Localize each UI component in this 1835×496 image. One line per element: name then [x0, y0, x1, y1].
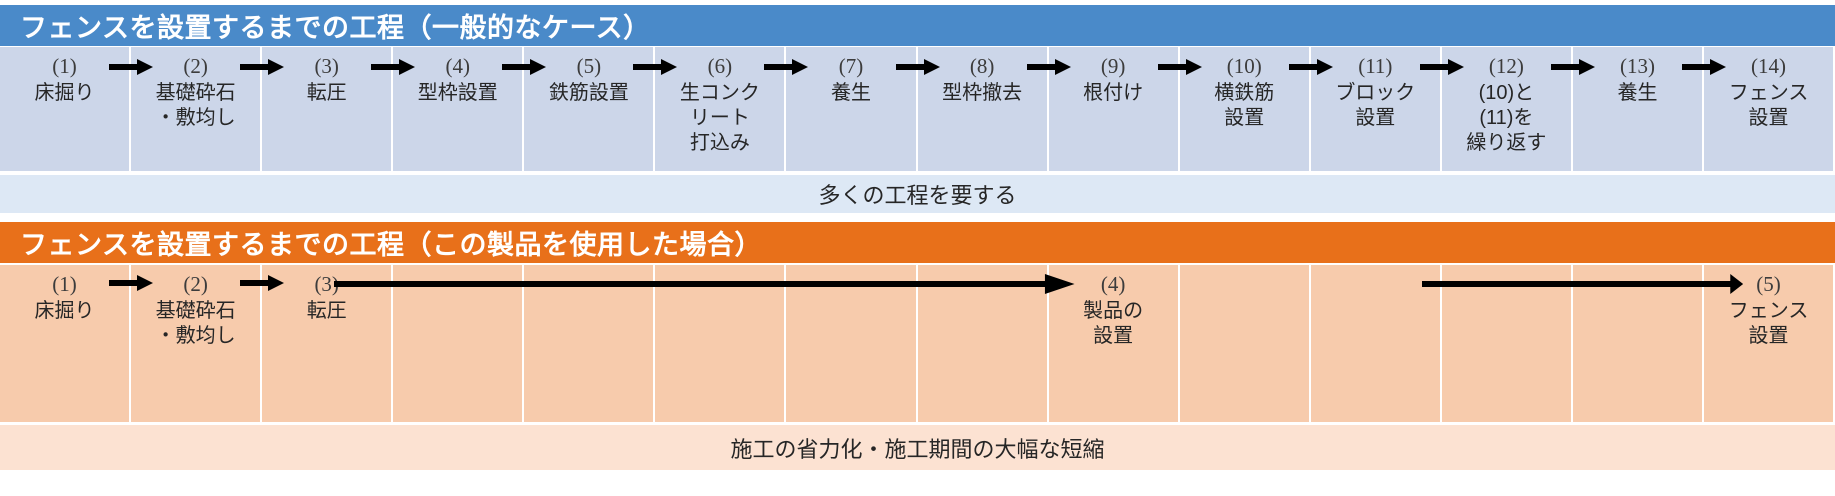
product-cell-11 — [1311, 265, 1442, 422]
step-number: (10) — [1227, 53, 1262, 79]
step-number: (8) — [970, 53, 995, 79]
conventional-cell-1: (1)床掘り — [0, 47, 131, 171]
product-cell-1: (1)床掘り — [0, 265, 131, 422]
product-section-title: フェンスを設置するまでの工程（この製品を使用した場合） — [0, 222, 1835, 263]
step-number: (3) — [314, 53, 339, 79]
step-number: (2) — [183, 53, 208, 79]
product-cell-10 — [1180, 265, 1311, 422]
step-label: 型枠撤去 — [942, 81, 1022, 106]
step-number: (5) — [577, 53, 602, 79]
step-number: (9) — [1101, 53, 1126, 79]
conventional-cell-5: (5)鉄筋設置 — [524, 47, 655, 171]
step-label: 製品の 設置 — [1083, 299, 1143, 349]
step-label: フェンス 設置 — [1729, 299, 1809, 349]
product-cell-8 — [918, 265, 1049, 422]
process-comparison-diagram: フェンスを設置するまでの工程（一般的なケース） (1)床掘り(2)基礎砕石 ・敷… — [0, 0, 1835, 496]
product-cell-3: (3)転圧 — [262, 265, 393, 422]
product-cell-5 — [524, 265, 655, 422]
step-number: (5) — [1756, 271, 1781, 297]
product-cell-9: (4)製品の 設置 — [1049, 265, 1180, 422]
product-cell-14: (5)フェンス 設置 — [1704, 265, 1835, 422]
step-label: 養生 — [1617, 81, 1657, 106]
step-label: 基礎砕石 ・敷均し — [156, 299, 236, 349]
step-label: 養生 — [831, 81, 871, 106]
step-number: (4) — [446, 53, 471, 79]
conventional-cell-7: (7)養生 — [786, 47, 917, 171]
step-label: 横鉄筋 設置 — [1214, 81, 1274, 131]
step-number: (14) — [1751, 53, 1786, 79]
product-cell-7 — [786, 265, 917, 422]
step-number: (1) — [52, 53, 77, 79]
step-number: (6) — [708, 53, 733, 79]
conventional-summary: 多くの工程を要する — [0, 175, 1835, 213]
step-number: (3) — [314, 271, 339, 297]
step-label: (10)と (11)を 繰り返す — [1466, 81, 1546, 156]
conventional-cell-2: (2)基礎砕石 ・敷均し — [131, 47, 262, 171]
conventional-cell-10: (10)横鉄筋 設置 — [1180, 47, 1311, 171]
step-number: (4) — [1101, 271, 1126, 297]
product-cell-4 — [393, 265, 524, 422]
step-label: 根付け — [1083, 81, 1143, 106]
conventional-cell-6: (6)生コンク リート 打込み — [655, 47, 786, 171]
conventional-section-title: フェンスを設置するまでの工程（一般的なケース） — [0, 5, 1835, 46]
conventional-cell-4: (4)型枠設置 — [393, 47, 524, 171]
conventional-cell-8: (8)型枠撤去 — [918, 47, 1049, 171]
step-label: ブロック 設置 — [1335, 81, 1415, 131]
step-label: 鉄筋設置 — [549, 81, 629, 106]
conventional-cell-3: (3)転圧 — [262, 47, 393, 171]
product-summary: 施工の省力化・施工期間の大幅な短縮 — [0, 425, 1835, 470]
step-label: 基礎砕石 ・敷均し — [156, 81, 236, 131]
step-number: (2) — [183, 271, 208, 297]
conventional-cell-11: (11)ブロック 設置 — [1311, 47, 1442, 171]
product-step-flow: (1)床掘り(2)基礎砕石 ・敷均し(3)転圧(4)製品の 設置(5)フェンス … — [0, 265, 1835, 422]
product-cell-13 — [1573, 265, 1704, 422]
step-label: 型枠設置 — [418, 81, 498, 106]
conventional-cell-14: (14)フェンス 設置 — [1704, 47, 1835, 171]
step-number: (13) — [1620, 53, 1655, 79]
conventional-cell-9: (9)根付け — [1049, 47, 1180, 171]
step-label: フェンス 設置 — [1729, 81, 1809, 131]
step-label: 転圧 — [307, 81, 347, 106]
product-cell-6 — [655, 265, 786, 422]
step-number: (12) — [1489, 53, 1524, 79]
product-cell-2: (2)基礎砕石 ・敷均し — [131, 265, 262, 422]
step-number: (1) — [52, 271, 77, 297]
step-number: (11) — [1358, 53, 1392, 79]
conventional-cell-13: (13)養生 — [1573, 47, 1704, 171]
step-number: (7) — [839, 53, 864, 79]
conventional-cell-12: (12)(10)と (11)を 繰り返す — [1442, 47, 1573, 171]
step-label: 転圧 — [307, 299, 347, 324]
step-label: 床掘り — [35, 299, 95, 324]
product-cell-12 — [1442, 265, 1573, 422]
step-label: 生コンク リート 打込み — [680, 81, 760, 156]
conventional-step-flow: (1)床掘り(2)基礎砕石 ・敷均し(3)転圧(4)型枠設置(5)鉄筋設置(6)… — [0, 47, 1835, 171]
step-label: 床掘り — [35, 81, 95, 106]
